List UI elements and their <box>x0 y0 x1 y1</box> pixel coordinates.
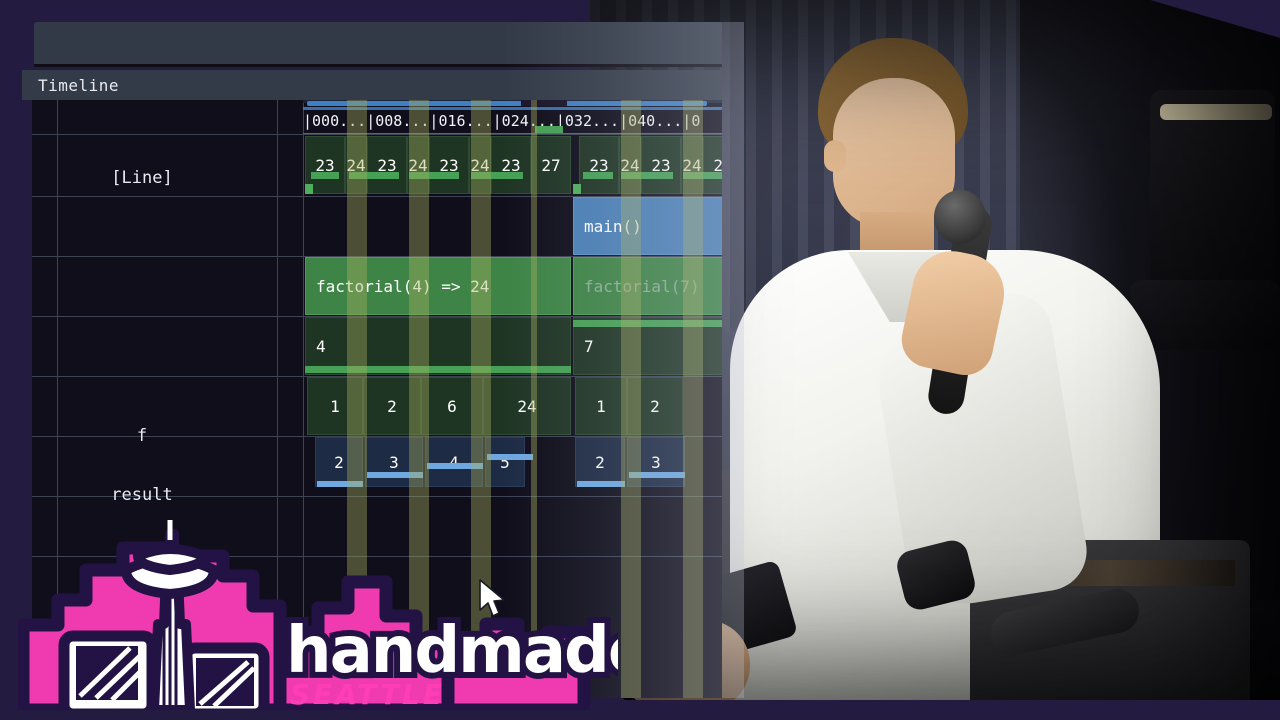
result-cell[interactable]: 2 <box>627 377 683 435</box>
call-label: factorial(4) => 24 <box>306 277 489 296</box>
i-sparkline <box>427 463 483 469</box>
result-cell[interactable]: 1 <box>575 377 627 435</box>
result-cell[interactable]: 1 <box>307 377 363 435</box>
call-label: factorial(7) <box>574 277 700 296</box>
i-sparkline <box>487 454 533 460</box>
result-cell[interactable]: 2 <box>363 377 421 435</box>
svg-text:SEATTLE: SEATTLE <box>290 678 445 710</box>
call-cell-factorial4[interactable]: factorial(4) => 24 <box>305 257 571 315</box>
result-value: 6 <box>422 397 482 416</box>
line-cell[interactable]: 23 <box>703 136 722 194</box>
i-sparkline <box>629 472 685 478</box>
i-cell[interactable]: 2 <box>315 437 363 487</box>
line-cell[interactable]: 23 <box>429 136 469 194</box>
callstack-label: main() <box>574 217 642 236</box>
sidebar-item-result[interactable]: result <box>32 485 252 505</box>
i-value: 3 <box>628 453 684 472</box>
line-cell[interactable]: 24 <box>681 136 703 194</box>
mouse-cursor <box>478 578 508 620</box>
timeline-ruler[interactable]: |000...|008...|016...|024...|032...|040.… <box>303 100 722 134</box>
line-sparkline <box>471 172 523 179</box>
i-cell[interactable]: 2 <box>575 437 625 487</box>
line-cell[interactable]: 24 <box>469 136 491 194</box>
result-value: 24 <box>484 397 570 416</box>
line-marker <box>573 184 581 194</box>
timeline-range-bar[interactable] <box>303 107 722 110</box>
i-value: 3 <box>366 453 422 472</box>
result-cell[interactable]: 6 <box>421 377 483 435</box>
i-cell[interactable]: 3 <box>365 437 423 487</box>
i-cell[interactable]: 3 <box>627 437 685 487</box>
svg-text:handmade: handmade <box>286 614 618 688</box>
i-cell[interactable]: 4 <box>425 437 483 487</box>
line-marker <box>305 184 313 194</box>
line-cell[interactable]: 24 <box>619 136 641 194</box>
i-value: 2 <box>316 453 362 472</box>
call-cell-factorial7[interactable]: factorial(7) <box>573 257 722 315</box>
i-sparkline <box>577 481 625 487</box>
ruler-tick-labels: |000...|008...|016...|024...|032...|040.… <box>303 112 722 134</box>
scrollbar-notch <box>521 100 567 106</box>
line-sparkline <box>409 172 459 179</box>
line-value: 27 <box>532 156 570 175</box>
result-value: 2 <box>364 397 420 416</box>
line-cell[interactable]: 23 <box>367 136 407 194</box>
f-sparkline <box>573 320 722 327</box>
handmade-seattle-logo: handmade SEATTLE <box>18 520 618 710</box>
f-sparkline <box>305 366 571 373</box>
page-title: Timeline <box>22 76 119 95</box>
line-sparkline <box>311 172 339 179</box>
result-cell[interactable]: 24 <box>483 377 571 435</box>
logo-graphic: handmade SEATTLE <box>18 520 618 710</box>
line-sparkline <box>349 172 399 179</box>
cursor-arrow-icon <box>478 578 508 620</box>
line-sparkline <box>583 172 613 179</box>
line-cell[interactable]: 24 <box>345 136 367 194</box>
sidebar-item-line[interactable]: [Line] <box>32 168 252 188</box>
callstack-cell-main[interactable]: main() <box>573 197 722 255</box>
i-sparkline <box>367 472 423 478</box>
line-sparkline <box>683 172 722 179</box>
result-value: 1 <box>576 397 626 416</box>
toolbar[interactable] <box>34 22 722 64</box>
result-value: 1 <box>308 397 362 416</box>
result-value: 2 <box>628 397 682 416</box>
line-cell[interactable]: 23 <box>491 136 531 194</box>
line-cell[interactable]: 27 <box>531 136 571 194</box>
sidebar-item-f[interactable]: f <box>32 426 252 446</box>
ruler-underline <box>303 133 722 134</box>
timeline-panel-header: Timeline <box>22 70 722 100</box>
i-sparkline <box>317 481 363 487</box>
line-cell[interactable]: 23 <box>579 136 619 194</box>
line-cell[interactable]: 24 <box>407 136 429 194</box>
f-value: 4 <box>306 337 326 356</box>
line-sparkline <box>621 172 673 179</box>
line-sparkline <box>535 126 563 133</box>
i-value: 2 <box>576 453 624 472</box>
horizontal-scrollbar-thumb[interactable] <box>307 101 707 106</box>
f-value: 7 <box>574 337 594 356</box>
i-cell[interactable]: 5 <box>485 437 525 487</box>
line-cell[interactable]: 23 <box>641 136 681 194</box>
